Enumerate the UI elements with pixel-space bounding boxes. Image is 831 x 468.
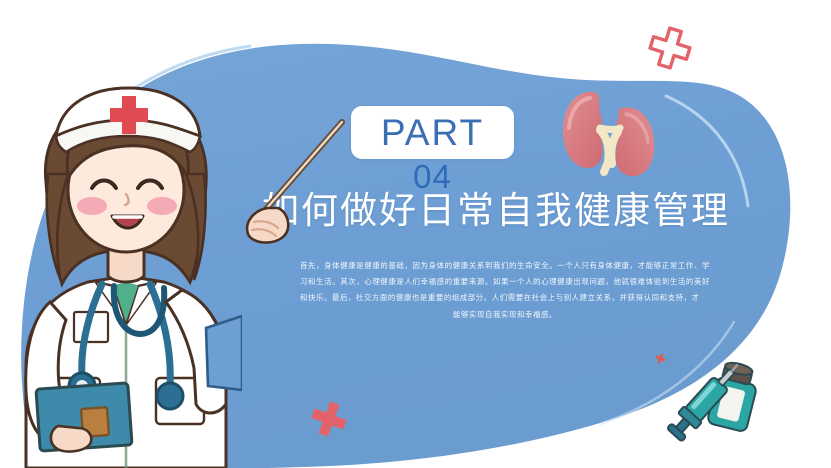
part-badge-label: PART [381, 114, 484, 151]
syringe-and-vial-illustration [660, 352, 788, 452]
slide-canvas: PART 04 如何做好日常自我健康管理 首先，身体健康是健康的基础，因为身体的… [0, 0, 831, 468]
blue-paper [206, 316, 242, 390]
part-badge: PART [351, 106, 514, 159]
body-paragraph-main: 首先，身体健康是健康的基础，因为身体的健康关系到我们的生命安全。一个人只有身体健… [300, 261, 710, 302]
nurse-left-hand [51, 426, 91, 451]
pointer-stick [232, 118, 364, 244]
nurse-illustration [10, 86, 242, 468]
body-paragraph: 首先，身体健康是健康的基础，因为身体的健康关系到我们的生命安全。一个人只有身体健… [300, 258, 710, 323]
kidney-organs-illustration [560, 84, 672, 184]
nurse-right-hand [247, 208, 288, 243]
body-paragraph-last-line: 能够实现自我实现和幸福感。 [300, 307, 710, 323]
